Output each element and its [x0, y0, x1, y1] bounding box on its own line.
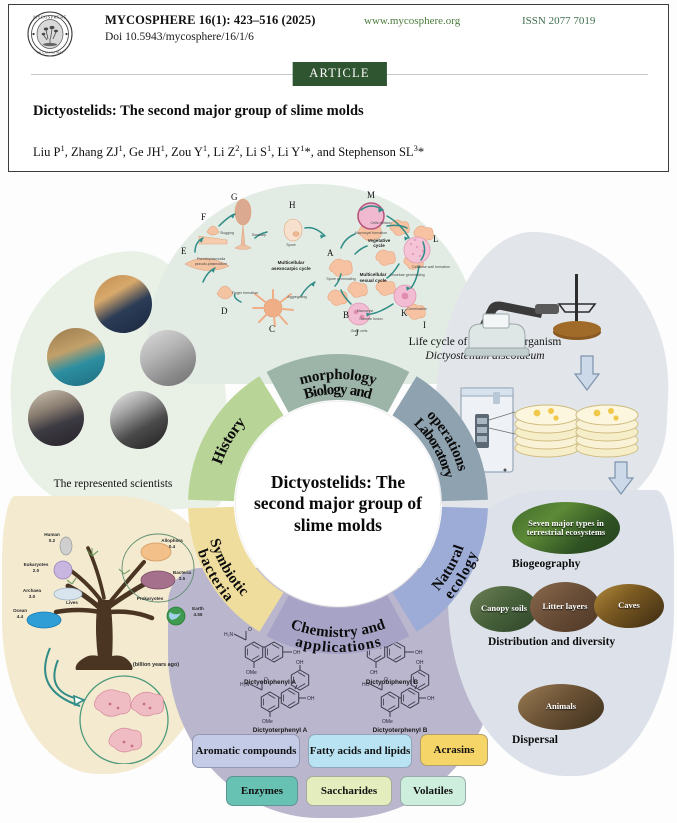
graphical-abstract-figure: A B C D E F G H I J K L M Vegetative: [0, 178, 677, 823]
history-caption: The represented scientists: [18, 478, 208, 490]
microscope-icon: [465, 302, 559, 357]
svg-text:OH: OH: [296, 660, 304, 666]
scientist-photo: [28, 390, 84, 446]
svg-text:L: L: [433, 234, 439, 244]
svg-text:Aggregating: Aggregating: [287, 295, 306, 299]
article-title: Dictyostelids: The second major group of…: [33, 103, 653, 120]
svg-text:E: E: [181, 246, 187, 256]
svg-text:B: B: [343, 310, 349, 320]
journal-url-link[interactable]: www.mycosphere.org: [364, 15, 460, 27]
svg-text:Amoebae germinating: Amoebae germinating: [389, 273, 424, 277]
svg-text:0.4: 0.4: [169, 544, 176, 549]
ecology-illustration: Seven major types in terrestrial ecosyst…: [470, 494, 670, 752]
svg-text:MYCOSPHERE: MYCOSPHERE: [33, 14, 67, 19]
svg-text:cycle: cycle: [373, 243, 385, 248]
journal-citation: MYCOSPHERE 16(1): 423–516 (2025): [105, 13, 315, 28]
mycosphere-logo-icon: MYCOSPHERE OF CHIANG MAI: [27, 11, 73, 57]
journal-header: MYCOSPHERE OF CHIANG MAI MYCOSPHERE 16(1…: [8, 4, 669, 172]
symbiotic-tree-illustration: Human0.2 Eukaryotes2.0 Archaea3.0 Lives …: [6, 508, 214, 764]
svg-text:Pseudoplasmodia: Pseudoplasmodia: [197, 257, 226, 261]
svg-text:Eukaryotes: Eukaryotes: [24, 562, 49, 567]
issn-text: ISSN 2077 7019: [522, 15, 595, 27]
svg-text:OF CHIANG MAI: OF CHIANG MAI: [37, 50, 63, 54]
svg-text:Lives: Lives: [66, 600, 78, 605]
svg-text:Multicellular: Multicellular: [278, 260, 305, 265]
svg-text:O: O: [384, 677, 388, 683]
svg-text:Finger formation: Finger formation: [232, 291, 258, 295]
svg-text:Gamete fusion: Gamete fusion: [359, 317, 382, 321]
svg-text:Multicellular: Multicellular: [360, 272, 387, 277]
svg-text:Spore germinating: Spore germinating: [326, 277, 355, 281]
wheel-center-title: Dictyostelids: The second major group of…: [236, 472, 440, 536]
ecology-photo-oval: Litter layers: [530, 582, 600, 632]
scientist-photo: [110, 391, 168, 449]
chip-volatiles[interactable]: Volatiles: [400, 776, 466, 806]
wheel-center-disc: Dictyostelids: The second major group of…: [236, 402, 440, 606]
ecology-caption: Dispersal: [512, 734, 558, 748]
svg-text:3.5: 3.5: [179, 576, 186, 581]
svg-text:C: C: [269, 324, 275, 334]
svg-text:Archaea: Archaea: [23, 588, 42, 593]
svg-text:Spore: Spore: [286, 243, 296, 247]
svg-text:F: F: [201, 212, 206, 222]
scientist-photo: [94, 275, 152, 333]
page-root: MYCOSPHERE OF CHIANG MAI MYCOSPHERE 16(1…: [0, 0, 677, 823]
svg-text:H₂N: H₂N: [240, 682, 250, 688]
svg-text:OMe: OMe: [246, 670, 257, 676]
svg-text:Allophora: Allophora: [161, 538, 183, 543]
svg-text:H: H: [289, 200, 296, 210]
svg-text:G: G: [231, 192, 238, 202]
svg-text:HO: HO: [362, 682, 370, 688]
svg-text:OMe: OMe: [382, 719, 393, 725]
time-axis-note: (billion years ago): [133, 662, 179, 668]
chip-acrasins[interactable]: Acrasins: [420, 734, 488, 766]
svg-text:OMe: OMe: [262, 719, 273, 725]
svg-text:4.4: 4.4: [17, 614, 24, 619]
svg-text:I: I: [423, 320, 426, 330]
chemistry-category-chips: Aromatic compounds Fatty acids and lipid…: [190, 734, 490, 816]
svg-text:sexual cycle: sexual cycle: [359, 278, 387, 283]
header-top-row: MYCOSPHERE OF CHIANG MAI MYCOSPHERE 16(1…: [9, 5, 668, 59]
svg-text:Sorocarp: Sorocarp: [252, 233, 267, 237]
svg-text:Prokaryotes: Prokaryotes: [137, 596, 164, 601]
svg-text:Ocean: Ocean: [13, 608, 27, 613]
svg-text:Cellulose wall formation: Cellulose wall formation: [412, 265, 450, 269]
flow-arrow-icon: [575, 356, 599, 390]
svg-text:asexocarpic cycle: asexocarpic cycle: [271, 266, 311, 271]
svg-text:Macrocyst formation: Macrocyst formation: [355, 231, 387, 235]
svg-text:Macrocyst: Macrocyst: [357, 309, 373, 313]
structure-label: Dictyobiphenyl B: [366, 679, 419, 686]
svg-text:D: D: [221, 306, 228, 316]
svg-text:OH: OH: [427, 696, 435, 702]
ecology-caption: Distribution and diversity: [488, 636, 638, 650]
ecology-photo-oval: Caves: [594, 584, 664, 628]
svg-text:0.2: 0.2: [49, 538, 56, 543]
svg-text:O: O: [264, 677, 268, 683]
svg-text:Giant cells: Giant cells: [351, 329, 368, 333]
chip-aromatic-compounds[interactable]: Aromatic compounds: [192, 734, 300, 768]
article-badge-row: ARTICLE: [9, 62, 670, 88]
chip-saccharides[interactable]: Saccharides: [306, 776, 392, 806]
svg-text:2.0: 2.0: [33, 568, 40, 573]
svg-text:Germination: Germination: [407, 307, 427, 311]
scientist-photo: [47, 328, 105, 386]
svg-text:Human: Human: [44, 532, 60, 537]
chip-enzymes[interactable]: Enzymes: [226, 776, 298, 806]
svg-text:3.0: 3.0: [29, 594, 36, 599]
ecology-photo-oval: Seven major types in terrestrial ecosyst…: [512, 502, 620, 554]
svg-text:OH: OH: [370, 670, 378, 676]
svg-text:pseudo-plasmodium: pseudo-plasmodium: [195, 262, 227, 266]
svg-text:A: A: [327, 248, 334, 258]
svg-text:Cells division: Cells division: [371, 221, 392, 225]
author-list: Liu P1, Zhang ZJ1, Ge JH1, Zou Y1, Li Z2…: [33, 143, 653, 160]
ecology-caption: Biogeography: [512, 558, 580, 572]
svg-text:Slugging: Slugging: [220, 231, 234, 235]
svg-text:M: M: [367, 190, 375, 200]
flow-arrow-icon: [609, 462, 633, 494]
doi-line: Doi 10.5943/mycosphere/16/1/6: [105, 31, 254, 43]
svg-text:OH: OH: [416, 660, 424, 666]
structure-label: Dictyoterphenyl A: [253, 727, 308, 734]
structure-label: Dictyoterphenyl B: [373, 727, 428, 734]
life-cycle-diagram: A B C D E F G H I J K L M Vegetative: [155, 190, 475, 365]
svg-text:OH: OH: [307, 696, 315, 702]
chip-fatty-acids-and-lipids[interactable]: Fatty acids and lipids: [308, 734, 412, 768]
lab-stand-icon: [553, 274, 601, 340]
ecology-photo-oval: Animals: [518, 684, 604, 730]
article-type-badge: ARTICLE: [292, 62, 386, 86]
